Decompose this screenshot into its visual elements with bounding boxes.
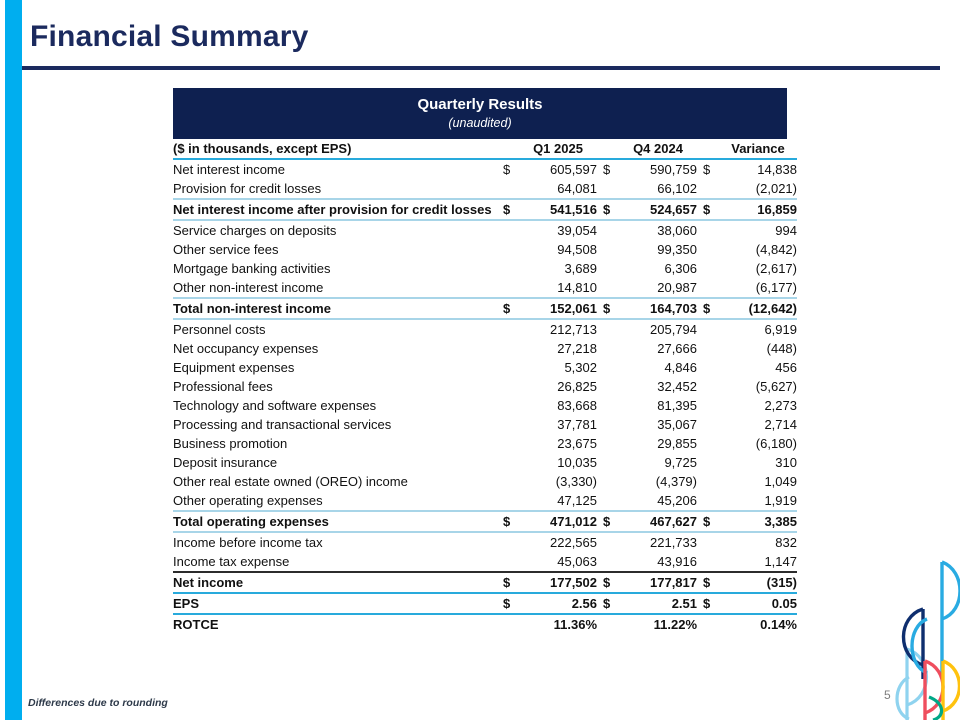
table-row: Other service fees94,50899,350(4,842) [173,240,797,259]
currency-symbol: $ [703,199,719,220]
row-label: Provision for credit losses [173,179,503,199]
table-banner: Quarterly Results (unaudited) [173,88,787,139]
cell-q4: 467,627 [619,511,697,532]
currency-symbol [603,339,619,358]
cell-q1: 2.56 [519,593,597,614]
cell-q4: 99,350 [619,240,697,259]
row-label: Other real estate owned (OREO) income [173,472,503,491]
table-row: Equipment expenses5,3024,846456 [173,358,797,377]
cell-variance: 0.05 [719,593,797,614]
currency-symbol: $ [703,511,719,532]
row-label: Total operating expenses [173,511,503,532]
currency-symbol [603,278,619,298]
currency-symbol [603,472,619,491]
currency-symbol [703,179,719,199]
row-label: Income before income tax [173,532,503,552]
cell-q4: 205,794 [619,319,697,339]
column-header-variance: Variance [719,139,797,159]
currency-symbol [503,415,519,434]
cell-q1: 27,218 [519,339,597,358]
currency-symbol: $ [603,511,619,532]
cell-q4: 524,657 [619,199,697,220]
cell-q1: 222,565 [519,532,597,552]
cell-variance: 14,838 [719,159,797,179]
cell-q1: 10,035 [519,453,597,472]
cell-q1: 212,713 [519,319,597,339]
table-header-row: ($ in thousands, except EPS)Q1 2025Q4 20… [173,139,797,159]
currency-symbol [603,491,619,511]
row-label: Business promotion [173,434,503,453]
cell-q1: 471,012 [519,511,597,532]
banner-title: Quarterly Results [173,95,787,115]
currency-symbol [703,358,719,377]
cell-q1: 177,502 [519,572,597,593]
currency-symbol [703,396,719,415]
row-label: EPS [173,593,503,614]
currency-symbol: $ [503,298,519,319]
row-label: Net occupancy expenses [173,339,503,358]
currency-symbol: $ [603,298,619,319]
page-title: Financial Summary [30,20,309,54]
currency-symbol [503,491,519,511]
currency-symbol [703,278,719,298]
cell-variance: (448) [719,339,797,358]
cell-q4: 221,733 [619,532,697,552]
cell-q1: 541,516 [519,199,597,220]
row-label: Professional fees [173,377,503,396]
cell-q1: 3,689 [519,259,597,278]
column-header-label: ($ in thousands, except EPS) [173,139,503,159]
cell-variance: 1,049 [719,472,797,491]
cell-q1: 14,810 [519,278,597,298]
currency-symbol [503,614,519,634]
cell-q1: 45,063 [519,552,597,572]
cell-q1: 94,508 [519,240,597,259]
currency-symbol [503,179,519,199]
table-row: Personnel costs212,713205,7946,919 [173,319,797,339]
currency-symbol [603,532,619,552]
cell-q4: 20,987 [619,278,697,298]
left-accent-bar [5,0,22,720]
currency-symbol [703,472,719,491]
currency-symbol [603,179,619,199]
cell-variance: 2,714 [719,415,797,434]
brand-logo-icon [893,557,960,720]
table-row: EPS$2.56$2.51$0.05 [173,593,797,614]
row-label: Service charges on deposits [173,220,503,240]
currency-symbol [503,339,519,358]
row-label: Processing and transactional services [173,415,503,434]
cell-q4: 6,306 [619,259,697,278]
table-row: Other non-interest income14,81020,987(6,… [173,278,797,298]
cell-variance: 3,385 [719,511,797,532]
cell-q1: 64,081 [519,179,597,199]
currency-symbol [703,319,719,339]
table-row: Income tax expense45,06343,9161,147 [173,552,797,572]
currency-symbol [503,377,519,396]
currency-symbol: $ [503,572,519,593]
currency-symbol [503,278,519,298]
cell-variance: 1,147 [719,552,797,572]
cell-variance: (6,180) [719,434,797,453]
row-label: Total non-interest income [173,298,503,319]
row-label: Technology and software expenses [173,396,503,415]
currency-symbol [503,532,519,552]
footnote: Differences due to rounding [28,697,168,709]
cell-q1: 83,668 [519,396,597,415]
currency-symbol [503,396,519,415]
table-row: Professional fees26,82532,452(5,627) [173,377,797,396]
cell-q4: (4,379) [619,472,697,491]
cell-variance: (2,617) [719,259,797,278]
currency-symbol [503,472,519,491]
currency-symbol [603,259,619,278]
cell-variance: (5,627) [719,377,797,396]
currency-symbol [603,453,619,472]
row-label: Net interest income [173,159,503,179]
cell-q4: 2.51 [619,593,697,614]
table-row: Provision for credit losses64,08166,102(… [173,179,797,199]
cell-q1: 5,302 [519,358,597,377]
table-row: Processing and transactional services37,… [173,415,797,434]
table-row: Service charges on deposits39,05438,0609… [173,220,797,240]
cell-q1: 37,781 [519,415,597,434]
currency-symbol: $ [703,593,719,614]
cell-variance: (2,021) [719,179,797,199]
cell-q4: 43,916 [619,552,697,572]
table-row: Technology and software expenses83,66881… [173,396,797,415]
cell-q4: 32,452 [619,377,697,396]
cell-q1: 152,061 [519,298,597,319]
cell-variance: 1,919 [719,491,797,511]
currency-symbol [703,377,719,396]
table-row: Income before income tax222,565221,73383… [173,532,797,552]
currency-symbol: $ [703,572,719,593]
cell-variance: 2,273 [719,396,797,415]
table-row: Net interest income$605,597$590,759$14,8… [173,159,797,179]
cell-q4: 590,759 [619,159,697,179]
cell-q1: (3,330) [519,472,597,491]
cell-q1: 39,054 [519,220,597,240]
currency-symbol [703,453,719,472]
table-row: Total non-interest income$152,061$164,70… [173,298,797,319]
currency-symbol [603,240,619,259]
currency-symbol [703,339,719,358]
row-label: Other non-interest income [173,278,503,298]
cell-q1: 11.36% [519,614,597,634]
table-row: Deposit insurance10,0359,725310 [173,453,797,472]
cell-q4: 11.22% [619,614,697,634]
currency-symbol: $ [703,298,719,319]
cell-q4: 35,067 [619,415,697,434]
row-label: Mortgage banking activities [173,259,503,278]
currency-symbol [503,358,519,377]
currency-symbol [703,614,719,634]
cell-q4: 27,666 [619,339,697,358]
cell-variance: 456 [719,358,797,377]
currency-symbol: $ [503,199,519,220]
currency-symbol [703,434,719,453]
row-label: Income tax expense [173,552,503,572]
cell-variance: 832 [719,532,797,552]
cell-q1: 26,825 [519,377,597,396]
currency-symbol [603,434,619,453]
row-label: ROTCE [173,614,503,634]
currency-symbol [703,532,719,552]
cell-q1: 605,597 [519,159,597,179]
currency-symbol [703,240,719,259]
cell-variance: (12,642) [719,298,797,319]
cell-variance: (315) [719,572,797,593]
cell-q4: 81,395 [619,396,697,415]
cell-q4: 9,725 [619,453,697,472]
cell-q4: 164,703 [619,298,697,319]
cell-q4: 29,855 [619,434,697,453]
currency-symbol: $ [603,199,619,220]
cell-q1: 47,125 [519,491,597,511]
cell-q4: 45,206 [619,491,697,511]
row-label: Other operating expenses [173,491,503,511]
cell-variance: 310 [719,453,797,472]
title-underline-rule [22,66,940,70]
currency-symbol [703,415,719,434]
cell-variance: 6,919 [719,319,797,339]
row-label: Personnel costs [173,319,503,339]
row-label: Deposit insurance [173,453,503,472]
table-row: Net interest income after provision for … [173,199,797,220]
table-row: Business promotion23,67529,855(6,180) [173,434,797,453]
cell-variance: (4,842) [719,240,797,259]
column-header-q4: Q4 2024 [619,139,697,159]
currency-symbol [503,259,519,278]
currency-symbol [503,319,519,339]
cell-q4: 177,817 [619,572,697,593]
currency-symbol [703,491,719,511]
currency-symbol: $ [703,159,719,179]
column-header-q1: Q1 2025 [519,139,597,159]
currency-symbol [603,396,619,415]
currency-symbol [603,552,619,572]
page-number: 5 [884,688,891,702]
currency-symbol: $ [503,593,519,614]
table-row: ROTCE11.36%11.22%0.14% [173,614,797,634]
currency-symbol [503,434,519,453]
row-label: Equipment expenses [173,358,503,377]
spacer-cell [503,139,519,159]
financial-summary-table: Quarterly Results (unaudited) ($ in thou… [173,88,787,634]
table-row: Net income$177,502$177,817$(315) [173,572,797,593]
currency-symbol: $ [503,511,519,532]
currency-symbol [503,552,519,572]
cell-q4: 38,060 [619,220,697,240]
results-table: ($ in thousands, except EPS)Q1 2025Q4 20… [173,139,797,634]
row-label: Net interest income after provision for … [173,199,503,220]
cell-variance: (6,177) [719,278,797,298]
cell-variance: 16,859 [719,199,797,220]
currency-symbol: $ [603,593,619,614]
table-row: Total operating expenses$471,012$467,627… [173,511,797,532]
currency-symbol [503,220,519,240]
currency-symbol [603,319,619,339]
currency-symbol [503,240,519,259]
currency-symbol [703,259,719,278]
currency-symbol [603,358,619,377]
spacer-cell [603,139,619,159]
banner-subtitle: (unaudited) [173,115,787,131]
spacer-cell [703,139,719,159]
cell-variance: 0.14% [719,614,797,634]
currency-symbol [703,552,719,572]
table-row: Net occupancy expenses27,21827,666(448) [173,339,797,358]
table-row: Other real estate owned (OREO) income(3,… [173,472,797,491]
row-label: Other service fees [173,240,503,259]
cell-q1: 23,675 [519,434,597,453]
cell-variance: 994 [719,220,797,240]
currency-symbol [603,377,619,396]
currency-symbol: $ [603,159,619,179]
currency-symbol: $ [503,159,519,179]
currency-symbol [703,220,719,240]
currency-symbol [603,415,619,434]
cell-q4: 66,102 [619,179,697,199]
cell-q4: 4,846 [619,358,697,377]
currency-symbol [603,220,619,240]
currency-symbol [503,453,519,472]
currency-symbol [603,614,619,634]
currency-symbol: $ [603,572,619,593]
table-row: Mortgage banking activities3,6896,306(2,… [173,259,797,278]
table-row: Other operating expenses47,12545,2061,91… [173,491,797,511]
row-label: Net income [173,572,503,593]
